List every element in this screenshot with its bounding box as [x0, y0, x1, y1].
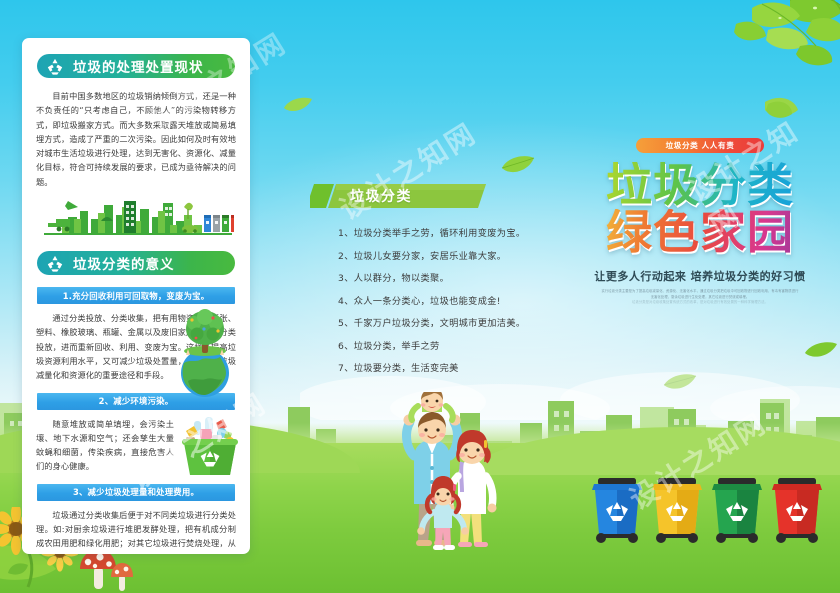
- list-item: 6、垃圾分类，举手之劳: [338, 341, 575, 352]
- slogans-heading-text: 垃圾分类: [350, 186, 412, 206]
- fineprint-block: 实行垃圾分类主要是为了提高垃圾减量化、资源化、无害化水平，通过垃圾分类把垃圾中可…: [600, 289, 800, 306]
- item3-paragraph: 垃圾通过分类收集后便于对不同类垃圾进行分类处理。如:对厨余垃圾进行堆肥发酵处理，…: [36, 508, 236, 554]
- section-heading-current-situation: 垃圾的处理处置现状: [37, 54, 235, 78]
- middle-slogans-panel: 垃圾分类 1、垃圾分类举手之劳，循环利用变废为宝。 2、垃圾儿女要分家，安居乐业…: [310, 182, 575, 386]
- leaves-branch-top-right: [640, 0, 840, 124]
- trash-bins-group: [592, 472, 832, 552]
- subheading-bar-1: 1.充分回收利用可回取物，变废为宝。: [37, 287, 235, 304]
- page-title: 垃圾分类 绿色家园: [560, 162, 840, 256]
- section1-heading-text: 垃圾的处理处置现状: [73, 56, 204, 76]
- subheading-text-1: 1.充分回收利用可回取物，变废为宝。: [63, 290, 210, 302]
- leaf-floating-mid: [500, 154, 536, 178]
- subheading-text-3: 3、减少垃圾处理量和处理费用。: [73, 486, 199, 498]
- recycle-icon: [46, 57, 64, 75]
- list-item: 7、垃圾要分类，生活变完美: [338, 363, 575, 374]
- waste-bin-illustration: [178, 417, 242, 483]
- family-illustration: [378, 392, 506, 554]
- mushroom-small: [111, 563, 133, 591]
- earth-tree-illustration: [166, 307, 244, 399]
- eco-city-illustration: [38, 197, 234, 237]
- subheading-bar-3: 3、减少垃圾处理量和处理费用。: [37, 484, 235, 501]
- status-badge: 垃圾分类 人人有责: [636, 138, 764, 153]
- badge-text: 垃圾分类 人人有责: [666, 140, 735, 151]
- left-info-card: 垃圾的处理处置现状 目前中国多数地区的垃圾销纳倾倒方式，还是一种不负责任的“只考…: [22, 38, 250, 554]
- fineprint-line-2: 垃圾分类是对垃圾收集处置传统方式的改革，是对垃圾进行有效处置的一种科学管理方法。: [600, 300, 800, 306]
- title-line-2: 绿色家园: [560, 209, 840, 256]
- bin-yellow: [652, 478, 702, 543]
- item2-paragraph: 随意堆放或简单填埋，会污染土壤、地下水源和空气；还会孳生大量蚊蝇和细菌，传染疾病…: [36, 417, 174, 474]
- slogan-list: 1、垃圾分类举手之劳，循环利用变废为宝。 2、垃圾儿女要分家，安居乐业靠大家。 …: [338, 228, 575, 374]
- title-line-1: 垃圾分类: [560, 162, 840, 209]
- slogans-heading-banner: 垃圾分类: [310, 182, 490, 210]
- fineprint-line-1: 实行垃圾分类主要是为了提高垃圾减量化、资源化、无害化水平，通过垃圾分类把垃圾中可…: [600, 289, 800, 300]
- bin-red: [772, 478, 822, 543]
- list-item: 2、垃圾儿女要分家，安居乐业靠大家。: [338, 251, 575, 262]
- list-item: 5、千家万户垃圾分类，文明城市更加洁美。: [338, 318, 575, 329]
- leaf-floating-left: [283, 96, 313, 116]
- section-heading-significance: 垃圾分类的意义: [37, 251, 235, 275]
- section1-paragraph: 目前中国多数地区的垃圾销纳倾倒方式，还是一种不负责任的“只考虑自己，不顾他人”的…: [36, 89, 236, 189]
- list-item: 1、垃圾分类举手之劳，循环利用变废为宝。: [338, 228, 575, 239]
- right-title-panel: 垃圾分类 人人有责 垃圾分类 绿色家园 让更多人行动起来 培养垃圾分类的好习惯 …: [560, 138, 840, 306]
- mushroom-large: [80, 549, 116, 589]
- poster-canvas: 垃圾的处理处置现状 目前中国多数地区的垃圾销纳倾倒方式，还是一种不负责任的“只考…: [0, 0, 840, 593]
- section2-heading-text: 垃圾分类的意义: [73, 253, 175, 273]
- list-item: 3、人以群分，物以类聚。: [338, 273, 575, 284]
- bin-blue: [592, 478, 642, 543]
- bin-green: [712, 478, 762, 543]
- recycle-icon: [46, 254, 64, 272]
- subtitle-text: 让更多人行动起来 培养垃圾分类的好习惯: [560, 268, 840, 284]
- list-item: 4、众人一条分类心，垃圾也能变成金!: [338, 296, 575, 307]
- subheading-text-2: 2、减少环境污染。: [99, 395, 174, 407]
